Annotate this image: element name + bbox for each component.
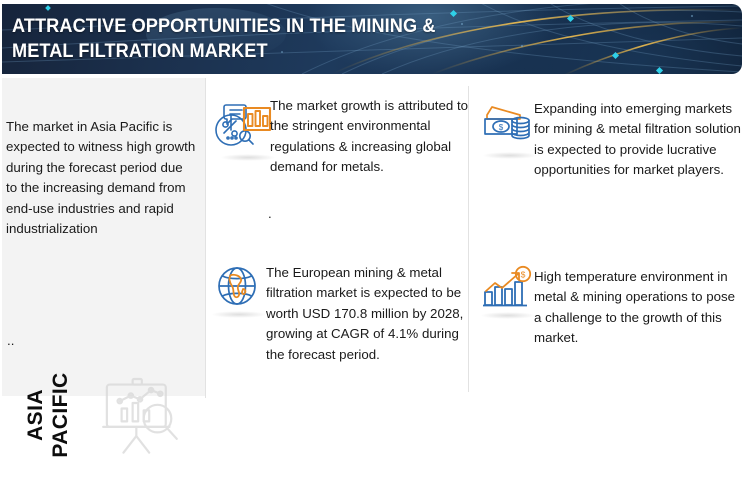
region-label-text: ASIA PACIFIC — [23, 351, 73, 479]
icon-shadow — [482, 152, 538, 159]
card-market-growth-text: The market growth is attributed to the s… — [270, 96, 470, 178]
left-panel-body-text: The market in Asia Pacific is expected t… — [6, 117, 196, 239]
growth-bar-chart-dollar-coin-icon: $ — [482, 265, 532, 309]
column-divider-left — [205, 78, 206, 398]
dollar-glyph: $ — [521, 269, 526, 279]
card-high-temperature-text: High temperature environment in metal & … — [534, 267, 739, 349]
globe-icon — [216, 265, 258, 307]
header-banner: ATTRACTIVE OPPORTUNITIES IN THE MINING &… — [2, 4, 742, 74]
presentation-chart-magnifier-icon — [94, 368, 186, 460]
svg-text:$: $ — [499, 123, 504, 132]
icon-shadow — [480, 312, 536, 319]
card-market-growth-artifact: . — [268, 209, 272, 219]
icon-shadow — [211, 311, 267, 318]
icon-shadow — [220, 154, 276, 161]
money-banknote-coins-icon: $ — [482, 102, 532, 148]
left-region-panel: The market in Asia Pacific is expected t… — [2, 78, 205, 396]
pie-percent-magnifier-bar-chart-icon — [214, 100, 272, 150]
card-european-market-text: The European mining & metal filtration m… — [266, 263, 466, 365]
page-title: ATTRACTIVE OPPORTUNITIES IN THE MINING &… — [12, 14, 533, 64]
card-emerging-markets-text: Expanding into emerging markets for mini… — [534, 99, 746, 181]
slide-canvas: ATTRACTIVE OPPORTUNITIES IN THE MINING &… — [0, 0, 750, 406]
